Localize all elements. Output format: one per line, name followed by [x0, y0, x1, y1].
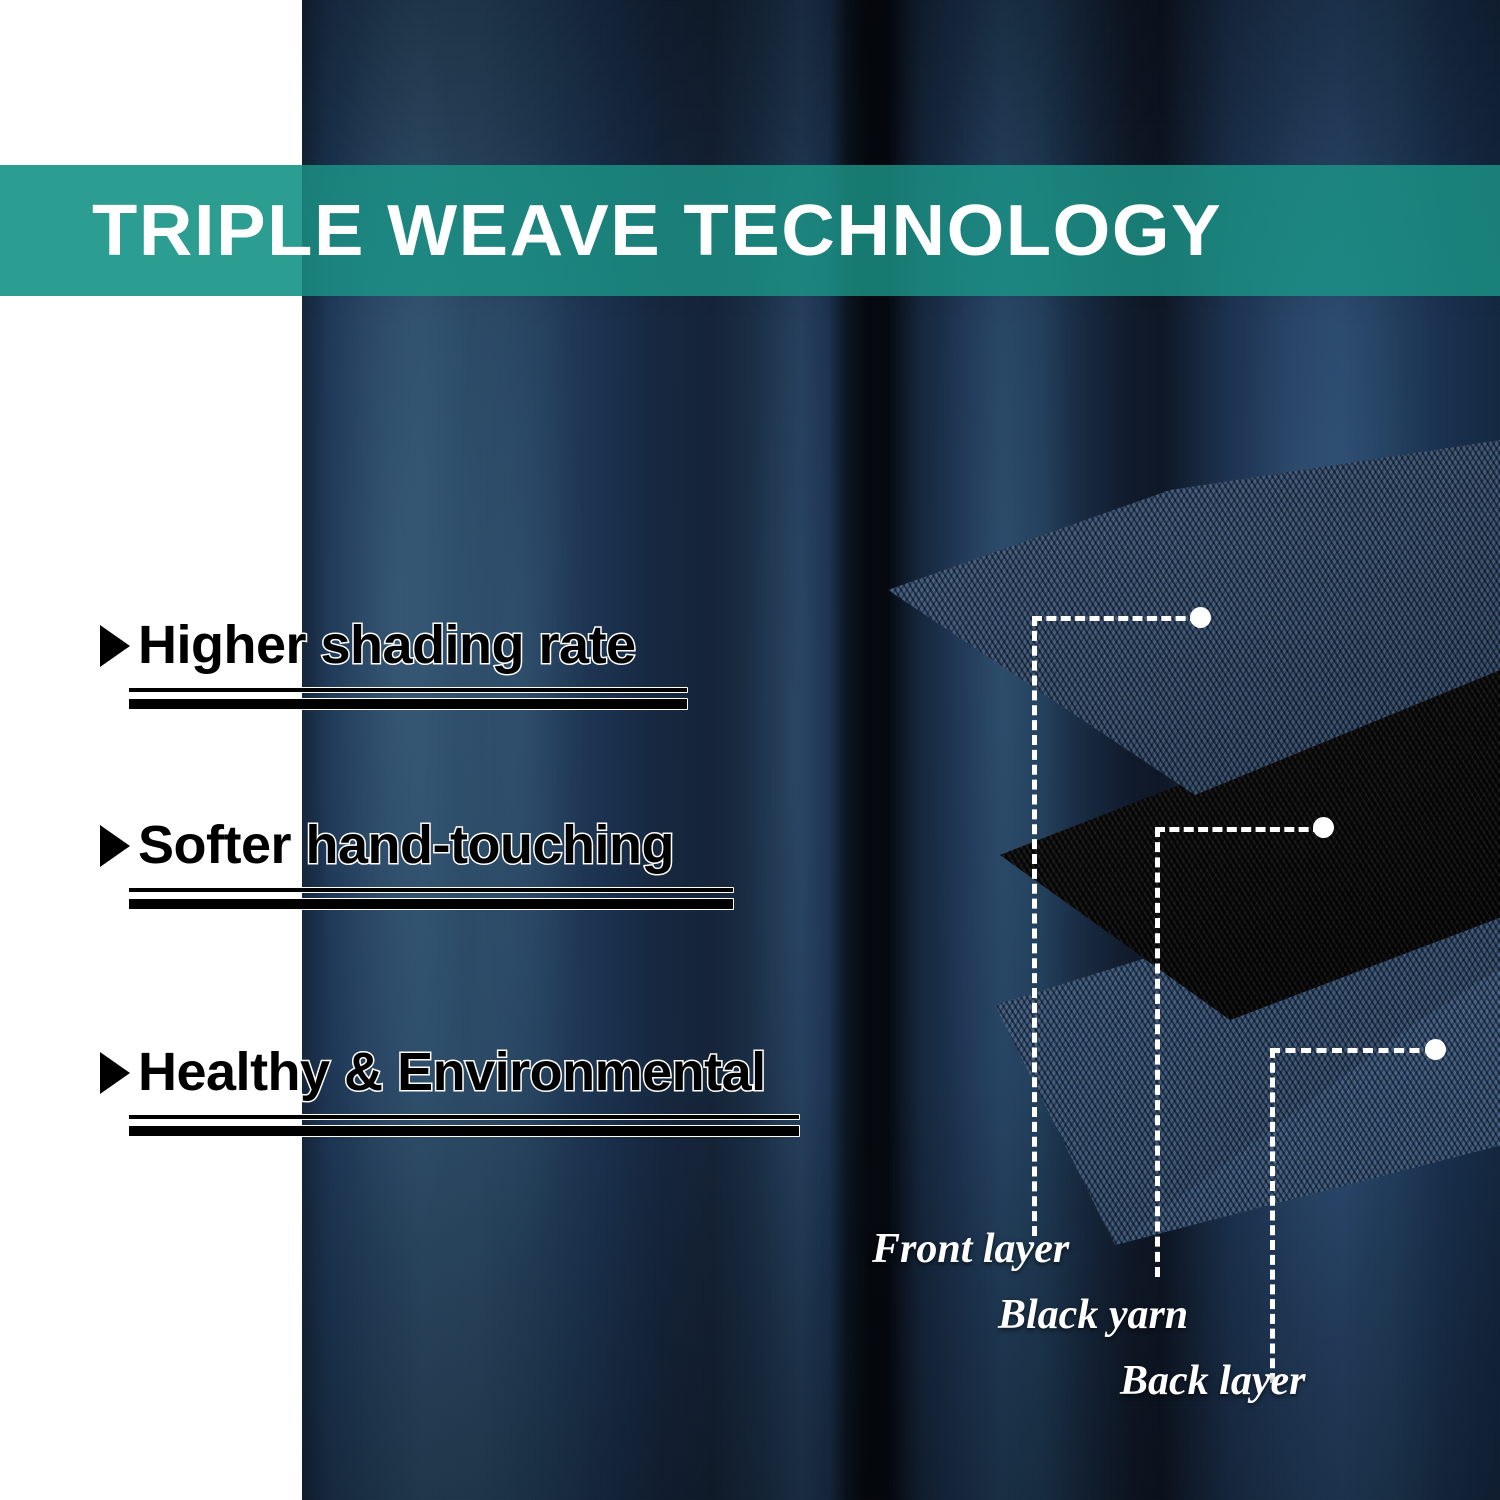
underline-thick: [128, 898, 734, 910]
product-feature-image: TRIPLE WEAVE TECHNOLOGY Higher shading r…: [0, 0, 1500, 1500]
triangle-right-icon: [100, 625, 130, 667]
feature-underline: [128, 687, 688, 710]
underline-thin: [128, 687, 688, 693]
triangle-right-icon: [100, 825, 130, 867]
feature-item-softer-hand-touching: Softer hand-touching: [100, 818, 734, 910]
banner: TRIPLE WEAVE TECHNOLOGY: [0, 165, 1500, 296]
underline-thin: [128, 887, 734, 893]
underline-thick: [128, 1125, 800, 1137]
triangle-right-icon: [100, 1052, 130, 1094]
underline-thick: [128, 698, 688, 710]
feature-underline: [128, 1114, 800, 1137]
feature-item-higher-shading-rate: Higher shading rate: [100, 618, 688, 710]
feature-underline: [128, 887, 734, 910]
banner-title: TRIPLE WEAVE TECHNOLOGY: [92, 195, 1222, 267]
feature-label: Healthy & Environmental: [138, 1045, 766, 1100]
underline-thin: [128, 1114, 800, 1120]
feature-label: Softer hand-touching: [138, 818, 674, 873]
feature-label: Higher shading rate: [138, 618, 636, 673]
feature-item-healthy-environmental: Healthy & Environmental: [100, 1045, 800, 1137]
